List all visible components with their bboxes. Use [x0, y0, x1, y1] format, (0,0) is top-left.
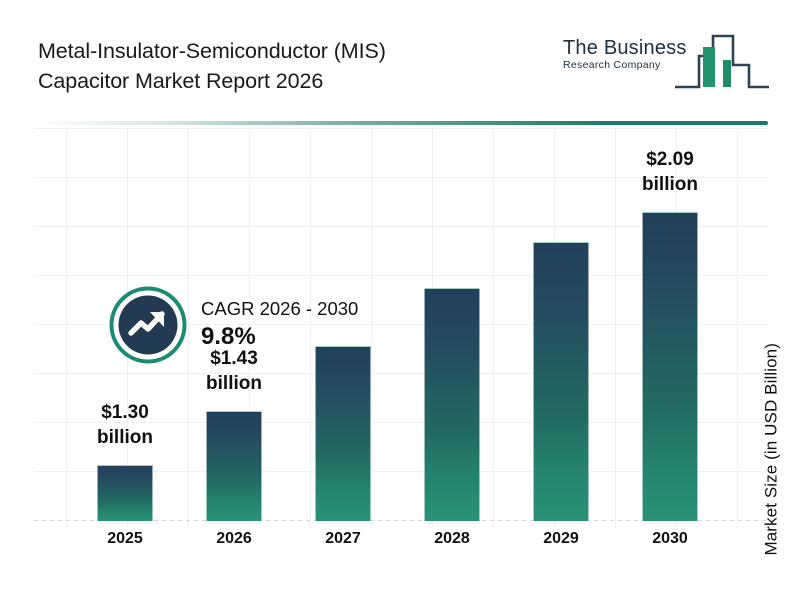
title-divider	[34, 121, 768, 125]
cagr-value-label: 9.8%	[201, 321, 358, 353]
gridline-v	[66, 128, 67, 528]
cagr-period-label: CAGR 2026 - 2030	[201, 296, 358, 321]
logo-wordmark: The Business Research Company	[563, 38, 689, 72]
bar-2029[interactable]	[533, 242, 589, 521]
bar-value-label-2030: $2.09 billion	[620, 147, 720, 197]
bar-2030[interactable]	[642, 212, 698, 521]
company-logo: The Business Research Company	[563, 30, 768, 98]
x-axis-tick-2026: 2026	[199, 530, 269, 548]
gridline-v	[615, 128, 616, 528]
cagr-text-block: CAGR 2026 - 2030 9.8%	[201, 296, 358, 353]
cagr-icon-circle	[109, 286, 187, 364]
x-axis-tick-2027: 2027	[308, 530, 378, 548]
bar-chart: $1.30 billion $1.43 billion $2.09 billio…	[34, 128, 768, 528]
bar-2026[interactable]	[206, 411, 262, 521]
report-header: Metal-Insulator-Semiconductor (MIS) Capa…	[0, 0, 800, 120]
x-axis-tick-2030: 2030	[635, 530, 705, 548]
gridline-v	[737, 128, 738, 528]
bar-chart-logo-icon	[675, 30, 769, 94]
cagr-badge: CAGR 2026 - 2030 9.8%	[109, 280, 439, 372]
logo-subtitle-line: Research Company	[563, 59, 689, 72]
logo-title-line: The Business	[563, 38, 689, 59]
page-title: Metal-Insulator-Semiconductor (MIS) Capa…	[38, 36, 558, 96]
bar-2027[interactable]	[315, 346, 371, 521]
bar-value-label-2025: $1.30 billion	[75, 400, 175, 450]
y-axis-title: Market Size (in USD Billion)	[762, 343, 782, 556]
x-axis-tick-2028: 2028	[417, 530, 487, 548]
x-axis-tick-2025: 2025	[90, 530, 160, 548]
gridline-h	[34, 128, 768, 129]
bar-2025[interactable]	[97, 465, 153, 521]
gridline-v	[493, 128, 494, 528]
x-axis-tick-2029: 2029	[526, 530, 596, 548]
chart-page: Metal-Insulator-Semiconductor (MIS) Capa…	[0, 0, 800, 600]
